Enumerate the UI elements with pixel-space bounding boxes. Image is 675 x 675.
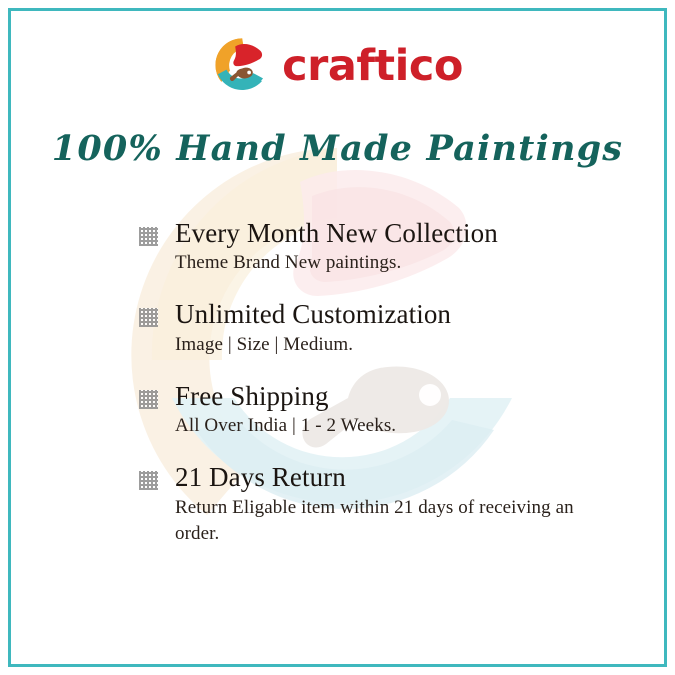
- feature-title: Unlimited Customization: [175, 299, 599, 329]
- woven-square-bullet-icon: [139, 390, 158, 409]
- feature-list: Every Month New Collection Theme Brand N…: [139, 218, 599, 547]
- tagline: 100% Hand Made Paintings: [0, 128, 675, 169]
- feature-item-customization: Unlimited Customization Image | Size | M…: [139, 299, 599, 357]
- feature-subtitle: All Over India | 1 - 2 Weeks.: [175, 413, 599, 439]
- feature-item-new-collection: Every Month New Collection Theme Brand N…: [139, 218, 599, 276]
- feature-item-free-shipping: Free Shipping All Over India | 1 - 2 Wee…: [139, 381, 599, 439]
- brand-wordmark: craftico: [282, 45, 463, 88]
- feature-title: Every Month New Collection: [175, 218, 599, 248]
- feature-item-returns: 21 Days Return Return Eligable item with…: [139, 462, 599, 547]
- woven-square-bullet-icon: [139, 227, 158, 246]
- brand-logo: craftico: [0, 34, 675, 96]
- woven-square-bullet-icon: [139, 308, 158, 327]
- feature-title: 21 Days Return: [175, 462, 599, 492]
- woven-square-bullet-icon: [139, 471, 158, 490]
- craftico-paintbrush-crescent-logo-icon: [212, 36, 270, 94]
- feature-subtitle: Theme Brand New paintings.: [175, 250, 599, 276]
- promo-card: craftico 100% Hand Made Paintings Every …: [0, 0, 675, 675]
- feature-title: Free Shipping: [175, 381, 599, 411]
- feature-subtitle: Return Eligable item within 21 days of r…: [175, 495, 599, 547]
- feature-subtitle: Image | Size | Medium.: [175, 332, 599, 358]
